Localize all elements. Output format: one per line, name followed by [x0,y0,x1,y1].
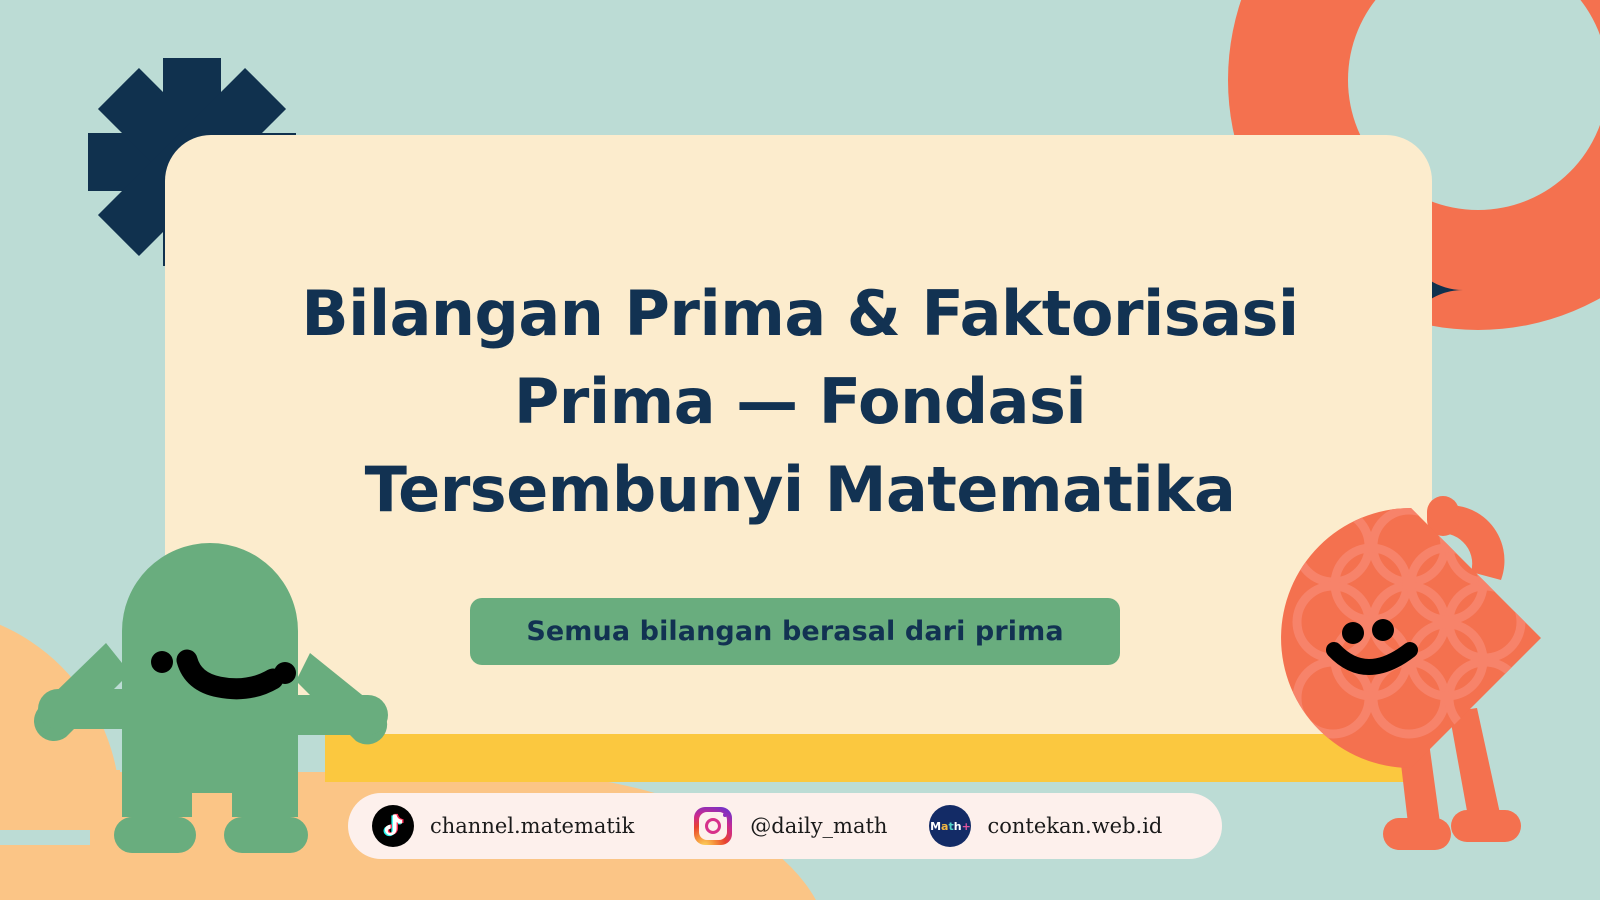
social-footer-bar: channel.matematik @daily_math Math+ [348,793,1222,859]
social-item-instagram[interactable]: @daily_math [692,805,887,847]
tiktok-icon [372,805,414,847]
social-handle-instagram: @daily_math [750,814,887,838]
subtitle-text: Semua bilangan berasal dari prima [526,616,1063,647]
coral-mascot-icon [1205,478,1600,883]
subtitle-badge: Semua bilangan berasal dari prima [470,598,1120,665]
social-item-tiktok[interactable]: channel.matematik [372,805,634,847]
social-handle-website: contekan.web.id [987,814,1162,838]
logo-char-4: h [954,820,962,833]
page-title: Bilangan Prima & Faktorisasi Prima — Fon… [285,270,1315,534]
social-handle-tiktok: channel.matematik [430,814,634,838]
social-item-website[interactable]: Math+ contekan.web.id [929,805,1162,847]
logo-char-5: + [962,820,971,833]
math-logo-icon: Math+ [929,805,971,847]
instagram-icon [692,805,734,847]
logo-char-1: M [930,820,941,833]
poster-canvas: Bilangan Prima & Faktorisasi Prima — Fon… [0,0,1600,900]
